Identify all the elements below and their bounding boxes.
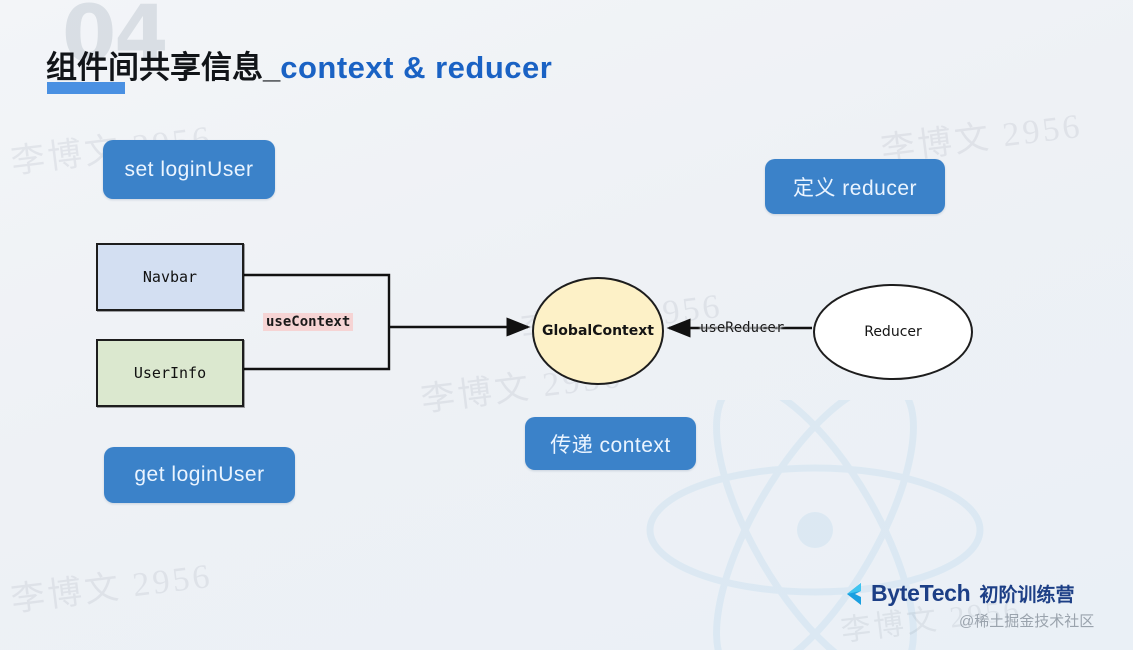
bytetech-chevron-icon <box>841 581 863 607</box>
node-userinfo[interactable]: UserInfo <box>96 339 244 407</box>
edge-label-usereducer: useReducer <box>700 320 784 336</box>
brand-community: @稀土掘金技术社区 <box>959 610 1094 631</box>
node-reducer[interactable]: Reducer <box>813 284 973 380</box>
slide-canvas: 李博文 2956 李博文 2956 李博文 2956 李博文 2956 李博文 … <box>0 0 1133 650</box>
brand-camp: 初阶训练营 <box>979 580 1074 607</box>
edge-label-usecontext: useContext <box>263 313 353 331</box>
node-navbar[interactable]: Navbar <box>96 243 244 311</box>
brand-name: ByteTech <box>871 580 970 607</box>
footer-brand: ByteTech 初阶训练营 <box>841 580 1074 607</box>
node-global-context[interactable]: GlobalContext <box>532 277 664 385</box>
